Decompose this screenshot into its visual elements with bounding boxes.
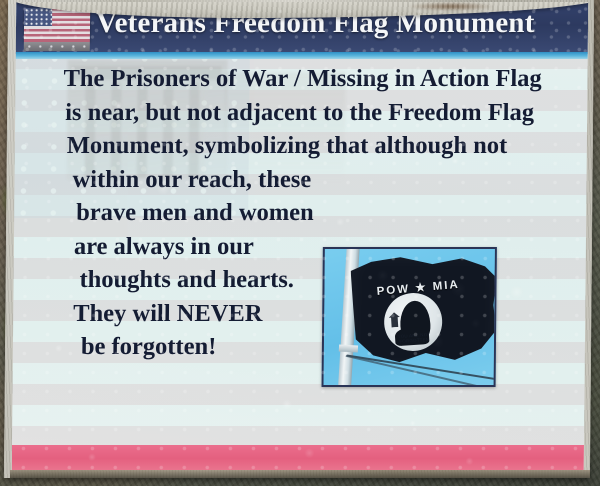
body-line: Monument, symbolizing that although not [15, 129, 587, 163]
header-accent-rule [16, 52, 588, 59]
frame-bottom-grime [10, 470, 590, 478]
flagpole-band [339, 345, 358, 353]
watchtower-icon [389, 312, 401, 328]
footer-band [12, 445, 584, 470]
us-flag-icon [24, 8, 90, 42]
flag-icon-plaque [24, 42, 90, 51]
body-line: be forgotten! [13, 330, 585, 364]
sign-body-text: The Prisoners of War / Missing in Action… [13, 62, 588, 364]
us-flag-canton [24, 8, 52, 26]
sign-screenshot: Veterans Freedom Flag Monument The Priso… [0, 0, 600, 486]
sign-panel: Veterans Freedom Flag Monument The Priso… [12, 2, 588, 470]
body-line: is near, but not adjacent to the Freedom… [15, 96, 587, 130]
pow-mia-flag-photo: POW ★ MIA YOU ARE NOT FORGOTTEN [322, 247, 497, 387]
body-line: The Prisoners of War / Missing in Action… [15, 62, 587, 96]
body-line: thoughts and hearts. [13, 263, 585, 297]
us-flag-stripes [24, 8, 90, 42]
body-line: They will NEVER [13, 297, 585, 331]
body-line: brave men and women [14, 196, 586, 230]
lip-stain [406, 2, 496, 11]
body-line: within our reach, these [14, 163, 586, 197]
body-line: are always in our [14, 230, 586, 264]
